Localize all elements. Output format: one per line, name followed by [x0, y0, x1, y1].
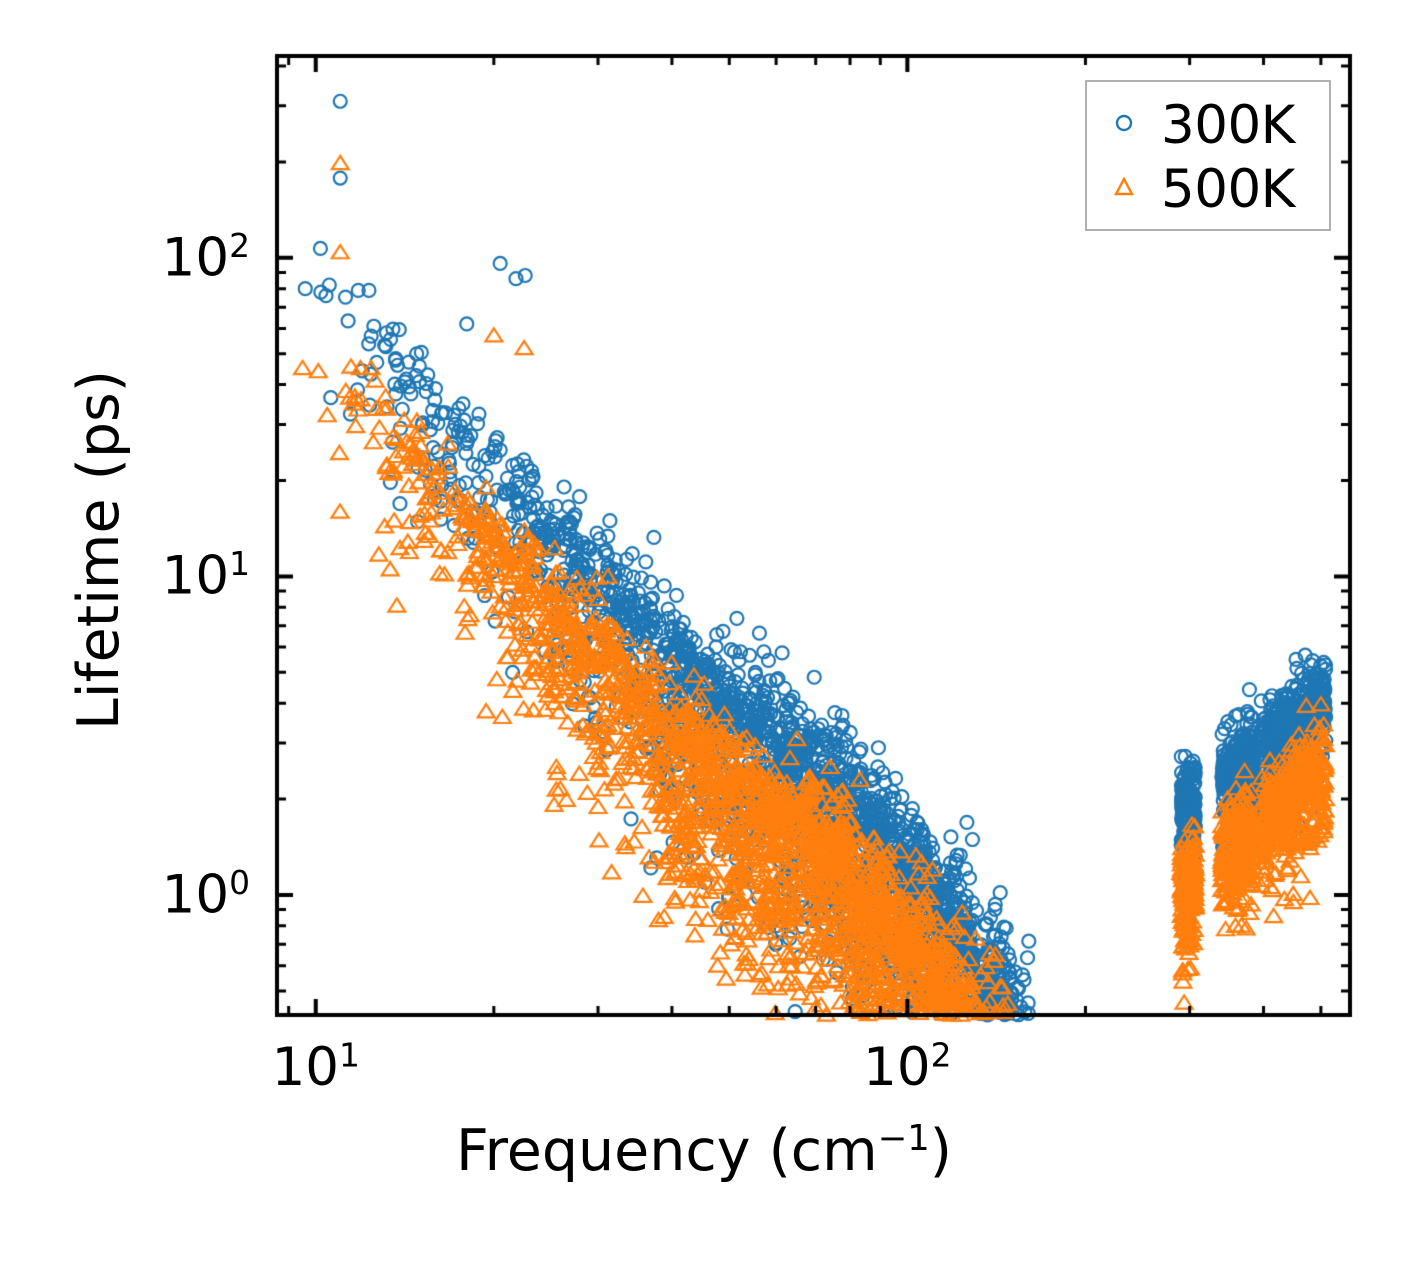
legend-entry-300k[interactable]: 300K	[1087, 94, 1329, 156]
y-tick-label-100: 102	[100, 227, 250, 288]
y-tick-label-10: 101	[100, 546, 250, 607]
legend-label-500k: 500K	[1161, 159, 1295, 220]
x-axis-label: Frequency (cm−1)	[0, 1118, 1408, 1184]
x-axis-label-text: Frequency (cm	[456, 1118, 878, 1184]
x-tick-label-100: 102	[863, 1037, 951, 1098]
x-axis-label-exponent: −1	[878, 1118, 930, 1159]
legend-marker-triangle-icon	[1087, 170, 1161, 208]
legend-entry-500k[interactable]: 500K	[1087, 158, 1329, 220]
phonon-lifetime-figure: Frequency (cm−1) Lifetime (ps) 300K 500K…	[0, 0, 1408, 1265]
x-axis-label-tail: )	[930, 1118, 952, 1184]
x-tick-label-10: 101	[272, 1037, 360, 1098]
legend[interactable]: 300K 500K	[1085, 80, 1331, 231]
legend-label-300k: 300K	[1161, 95, 1295, 156]
legend-marker-circle-icon	[1087, 106, 1161, 144]
y-tick-label-1: 100	[100, 864, 250, 925]
